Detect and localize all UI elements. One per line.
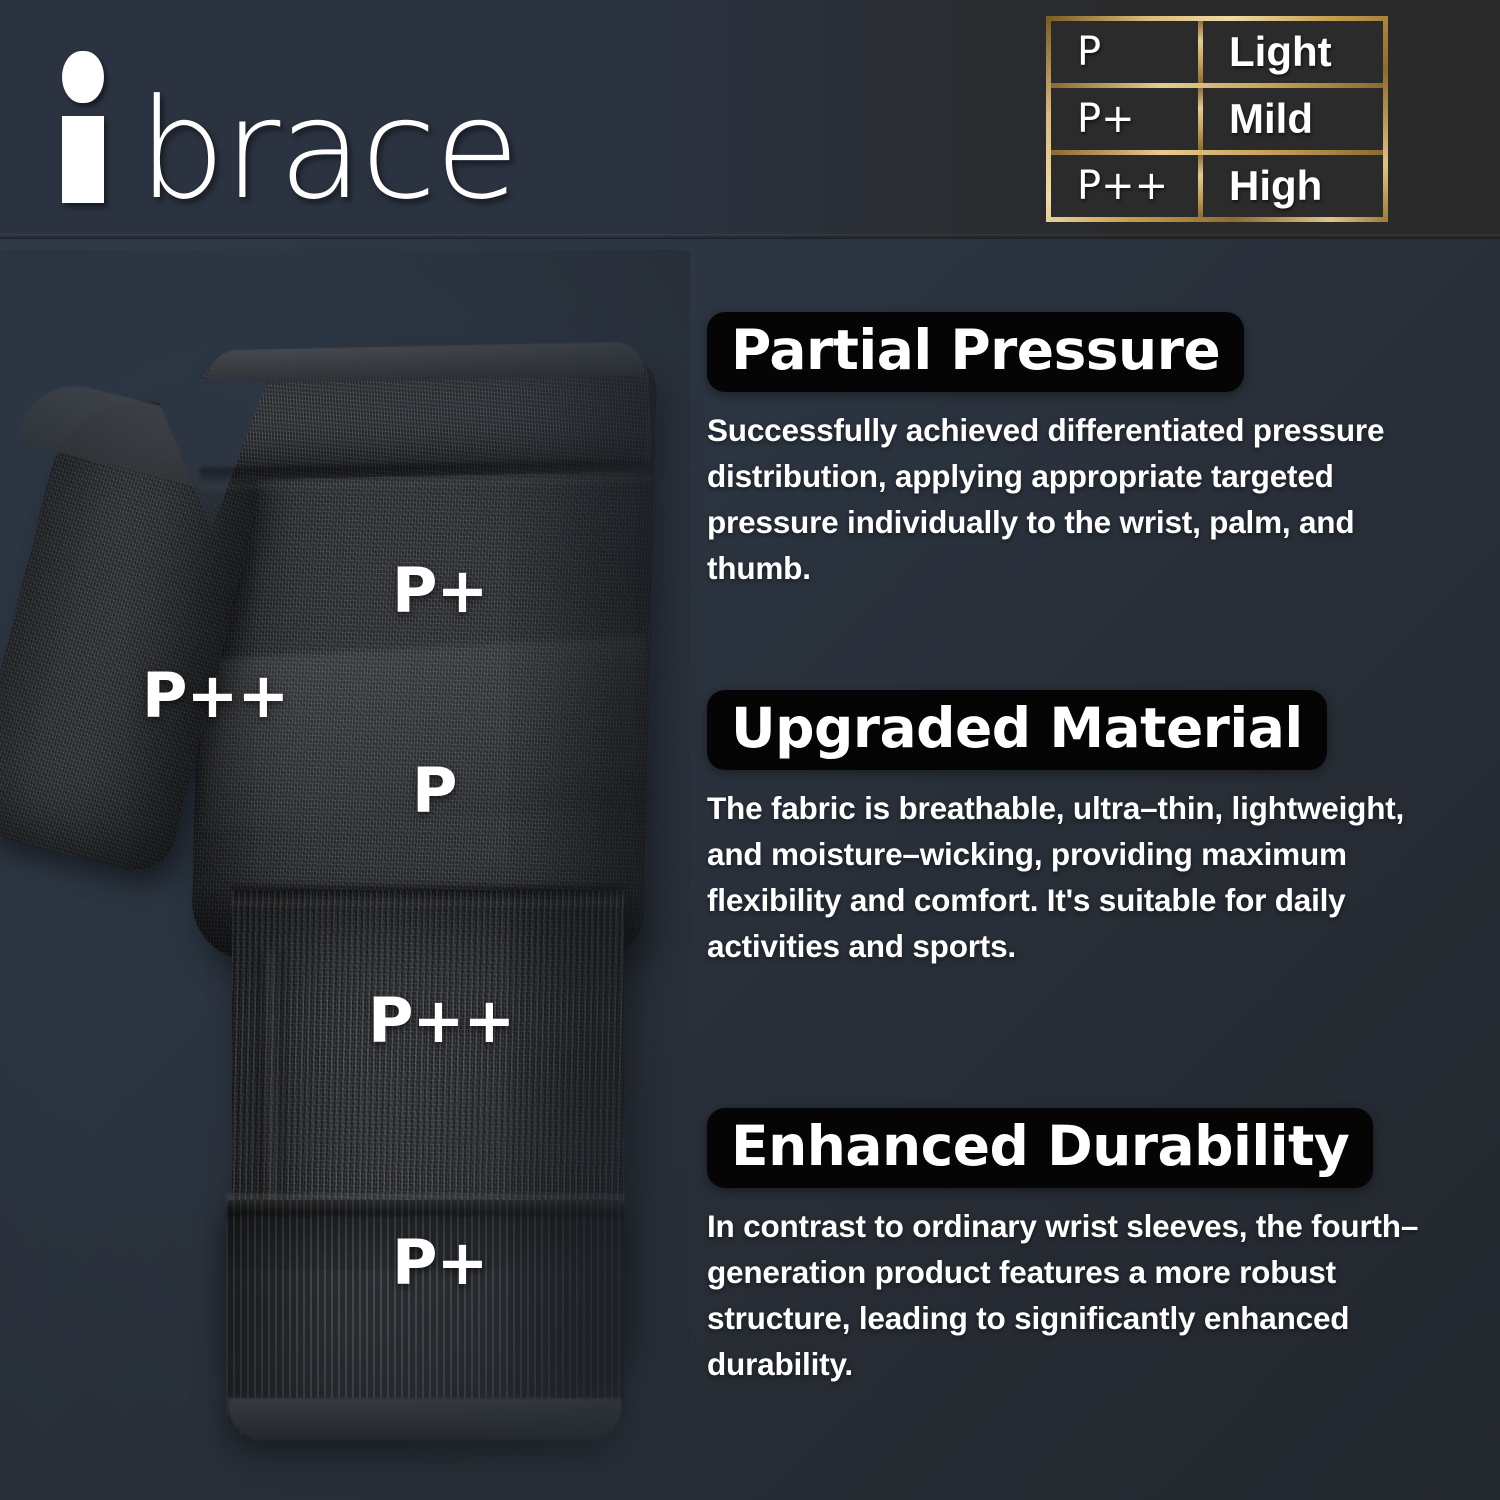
feature-body: In contrast to ordinary wrist sleeves, t… — [707, 1204, 1447, 1388]
logo-wordmark: brace — [138, 91, 518, 210]
product-image: P+ P++ P P++ P+ — [0, 250, 690, 1500]
feature-partial-pressure: Partial Pressure Successfully achieved d… — [707, 312, 1467, 592]
feature-upgraded-material: Upgraded Material The fabric is breathab… — [707, 690, 1467, 970]
brace-forearm-cuff-lip — [226, 1194, 624, 1216]
logo-dot-icon — [62, 51, 104, 103]
feature-body: Successfully achieved differentiated pre… — [707, 408, 1447, 592]
legend-row: P+ Mild — [1051, 88, 1383, 155]
legend-label: Mild — [1203, 88, 1383, 150]
pressure-marker-wrist: P++ — [368, 990, 514, 1052]
feature-title: Upgraded Material — [707, 690, 1327, 770]
feature-title: Partial Pressure — [707, 312, 1244, 392]
brace-forearm-cuff-edge — [228, 1398, 622, 1440]
infographic-page: brace P Light P+ Mild P++ High — [0, 0, 1500, 1500]
feature-list: Partial Pressure Successfully achieved d… — [707, 250, 1467, 1500]
pressure-marker-thumb: P++ — [142, 665, 288, 727]
feature-enhanced-durability: Enhanced Durability In contrast to ordin… — [707, 1108, 1467, 1388]
pressure-marker-cuff: P+ — [392, 1232, 487, 1294]
pressure-legend-table: P Light P+ Mild P++ High — [1046, 16, 1388, 222]
logo-i-mark — [62, 43, 104, 203]
brace-wrist-seam — [232, 886, 624, 906]
legend-row: P++ High — [1051, 155, 1383, 217]
legend-code: P — [1051, 21, 1203, 83]
wrist-brace-illustration — [0, 250, 690, 1500]
legend-row: P Light — [1051, 21, 1383, 88]
legend-code: P++ — [1051, 155, 1203, 217]
legend-code: P+ — [1051, 88, 1203, 150]
logo-stem-icon — [62, 116, 104, 203]
feature-title: Enhanced Durability — [707, 1108, 1373, 1188]
pressure-marker-palm: P — [412, 760, 456, 822]
feature-body: The fabric is breathable, ultra–thin, li… — [707, 786, 1447, 970]
legend-label: Light — [1203, 21, 1383, 83]
legend-label: High — [1203, 155, 1383, 217]
pressure-marker-hand: P+ — [392, 560, 487, 622]
header-divider — [0, 234, 1500, 239]
brand-logo: brace — [62, 38, 518, 203]
